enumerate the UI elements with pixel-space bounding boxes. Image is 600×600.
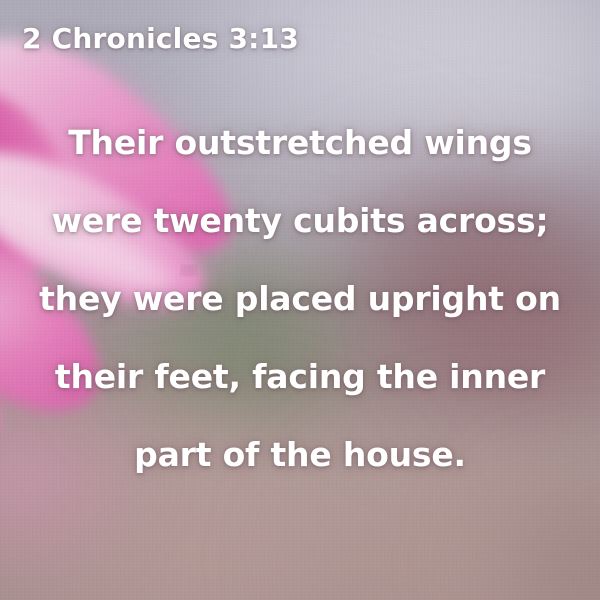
verse-line: they were placed upright on bbox=[18, 260, 582, 338]
verse-line: part of the house. bbox=[18, 416, 582, 494]
verse-line: were twenty cubits across; bbox=[18, 182, 582, 260]
verse-reference: 2 Chronicles 3:13 bbox=[22, 22, 299, 55]
verse-image-canvas: 2 Chronicles 3:13 Their outstretched win… bbox=[0, 0, 600, 600]
verse-text-block: Their outstretched wings were twenty cub… bbox=[0, 104, 600, 494]
verse-line: their feet, facing the inner bbox=[18, 338, 582, 416]
verse-line: Their outstretched wings bbox=[18, 104, 582, 182]
